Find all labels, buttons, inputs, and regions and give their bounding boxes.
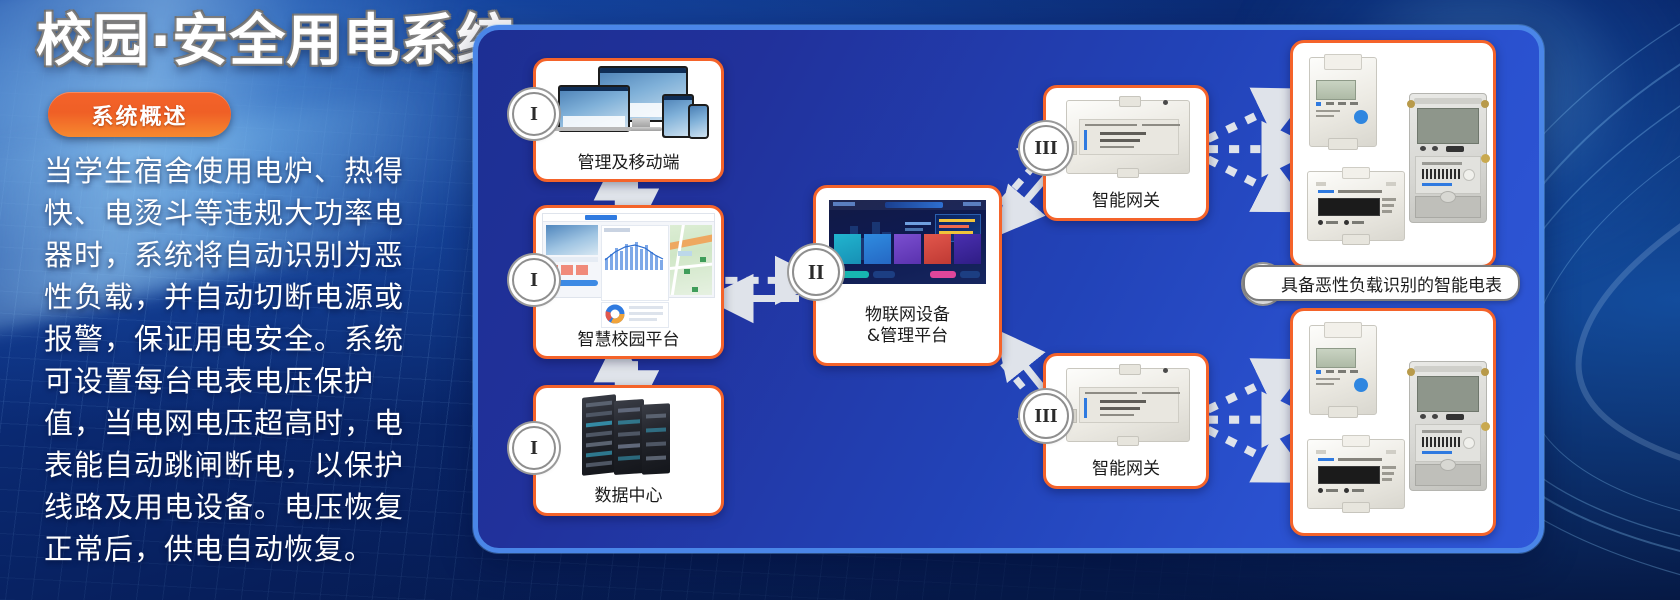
section-pill: 系统概述 — [48, 92, 231, 137]
three-phase-meter-icon — [1409, 361, 1487, 491]
node-smart-campus-platform[interactable]: 智慧校园平台 — [533, 205, 724, 359]
iot-console-icon — [823, 195, 992, 289]
meter-group-bottom[interactable] — [1290, 308, 1496, 536]
arrow-gateway-top-to-meter-a — [1208, 103, 1284, 139]
section-pill-label: 系统概述 — [91, 99, 187, 131]
left-column: 校园·安全用电系统 系统概述 当学生宿舍使用电炉、热得快、电烫斗等违规大功率电器… — [0, 0, 470, 600]
node-label: 智能网关 — [1046, 185, 1206, 218]
node-label-line-2: &管理平台 — [816, 326, 999, 347]
badge-roman-4: II — [792, 248, 840, 296]
node-label-line-1: 物联网设备 — [816, 305, 999, 326]
arrow-gateway-bottom-to-meter-c — [1208, 430, 1284, 468]
node-management-mobile[interactable]: 管理及移动端 — [533, 58, 724, 182]
single-phase-meter-icon — [1309, 325, 1377, 415]
meter-chip-label: 具备恶性负载识别的智能电表 — [1281, 271, 1502, 296]
server-rack-icon — [536, 388, 721, 480]
infographic-root: 校园·安全用电系统 系统概述 当学生宿舍使用电炉、热得快、电烫斗等违规大功率电器… — [0, 0, 1680, 600]
node-label: 智慧校园平台 — [536, 324, 721, 356]
node-label: 智能网关 — [1046, 453, 1206, 486]
din-rail-meter-icon — [1307, 171, 1405, 241]
three-phase-meter-icon — [1409, 93, 1487, 223]
din-rail-meter-icon — [1307, 439, 1405, 509]
node-data-center[interactable]: 数据中心 — [533, 385, 724, 516]
page-title: 校园·安全用电系统 — [36, 14, 514, 70]
diagram-panel: 管理及移动端 I — [473, 25, 1544, 553]
badge-roman-1: I — [512, 92, 556, 136]
badge-roman-2: I — [512, 258, 556, 302]
meter-group-top[interactable] — [1290, 40, 1496, 268]
node-iot-platform[interactable]: 物联网设备 &管理平台 — [813, 185, 1002, 366]
badge-roman-5: III — [1023, 125, 1069, 171]
gateway-device-icon — [1046, 88, 1206, 183]
badge-roman-6: III — [1023, 393, 1069, 439]
node-label: 管理及移动端 — [536, 147, 721, 179]
badge-roman-3: I — [512, 426, 556, 470]
gateway-device-icon — [1046, 356, 1206, 451]
overview-paragraph: 当学生宿舍使用电炉、热得快、电烫斗等违规大功率电器时，系统将自动识别为恶性负载，… — [44, 150, 426, 570]
devices-icon — [536, 61, 721, 147]
single-phase-meter-icon — [1309, 57, 1377, 147]
arrow-gateway-bottom-to-meter-a — [1208, 373, 1284, 409]
node-label: 数据中心 — [536, 480, 721, 513]
donut-chart-icon — [605, 304, 625, 324]
meter-chip-label-container[interactable]: 具备恶性负载识别的智能电表 — [1243, 265, 1520, 301]
dashboard-map-icon — [536, 208, 721, 324]
arrow-gateway-top-to-meter-c — [1208, 159, 1284, 197]
